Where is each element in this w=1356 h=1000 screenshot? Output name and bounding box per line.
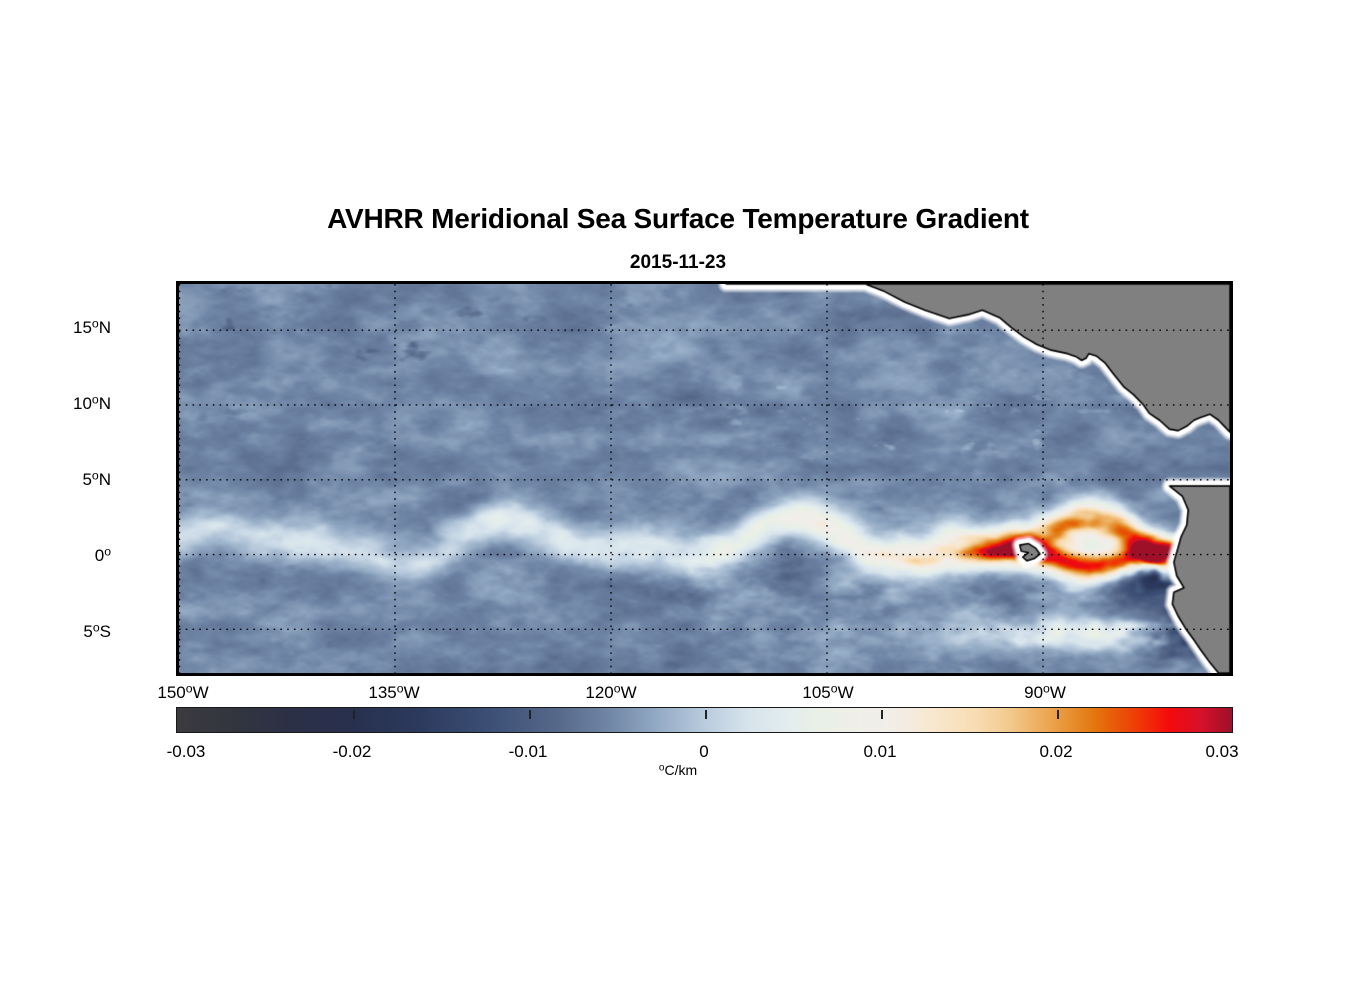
xtick-label-120w: 120oW xyxy=(585,683,636,703)
xtick-105w xyxy=(831,673,834,676)
ytick-right-10n xyxy=(1230,407,1233,410)
colorbar-label-pos001: 0.01 xyxy=(863,742,896,762)
ytick-15n xyxy=(176,331,179,334)
ytick-right-0 xyxy=(1230,559,1233,562)
ytick-10n xyxy=(176,407,179,410)
ytick-label-10n: 10oN xyxy=(73,394,111,414)
colorbar-tick-pos001 xyxy=(881,710,883,719)
map-plot-area[interactable] xyxy=(176,281,1233,676)
colorbar-tick-neg001 xyxy=(529,710,531,719)
chart-subtitle-date: 2015-11-23 xyxy=(0,252,1356,274)
ytick-label-15n: 15oN xyxy=(73,318,111,338)
figure-canvas: AVHRR Meridional Sea Surface Temperature… xyxy=(0,0,1356,1000)
ytick-0 xyxy=(176,559,179,562)
xtick-top-135w xyxy=(396,281,399,284)
colorbar-label-pos003: 0.03 xyxy=(1205,742,1238,762)
colorbar-tick-zero xyxy=(705,710,707,719)
xtick-label-105w: 105oW xyxy=(802,683,853,703)
xtick-label-90w: 90oW xyxy=(1024,683,1066,703)
xtick-90w xyxy=(1048,673,1051,676)
colorbar[interactable] xyxy=(176,707,1233,733)
ytick-label-5s: 5oS xyxy=(83,622,111,642)
xtick-120w xyxy=(614,673,617,676)
xtick-label-135w: 135oW xyxy=(368,683,419,703)
colorbar-label-neg003: -0.03 xyxy=(167,742,206,762)
ytick-right-5n xyxy=(1230,483,1233,486)
colorbar-tick-neg002 xyxy=(353,710,355,719)
colorbar-label-neg002: -0.02 xyxy=(333,742,372,762)
colorbar-label-zero: 0 xyxy=(699,742,708,762)
colorbar-unit-label: oC/km xyxy=(0,762,1356,778)
xtick-top-120w xyxy=(614,281,617,284)
ytick-5n xyxy=(176,483,179,486)
ytick-label-5n: 5oN xyxy=(82,470,111,490)
colorbar-tick-pos002 xyxy=(1057,710,1059,719)
ytick-right-5s xyxy=(1230,635,1233,638)
ytick-right-15n xyxy=(1230,331,1233,334)
xtick-label-150w: 150oW xyxy=(157,683,208,703)
ytick-5s xyxy=(176,635,179,638)
xtick-135w xyxy=(396,673,399,676)
xtick-top-105w xyxy=(831,281,834,284)
xtick-top-90w xyxy=(1048,281,1051,284)
sst-gradient-heatmap xyxy=(179,284,1230,673)
page-title: AVHRR Meridional Sea Surface Temperature… xyxy=(0,203,1356,235)
colorbar-label-pos002: 0.02 xyxy=(1039,742,1072,762)
colorbar-label-neg001: -0.01 xyxy=(509,742,548,762)
ytick-label-0: 0o xyxy=(95,546,111,566)
